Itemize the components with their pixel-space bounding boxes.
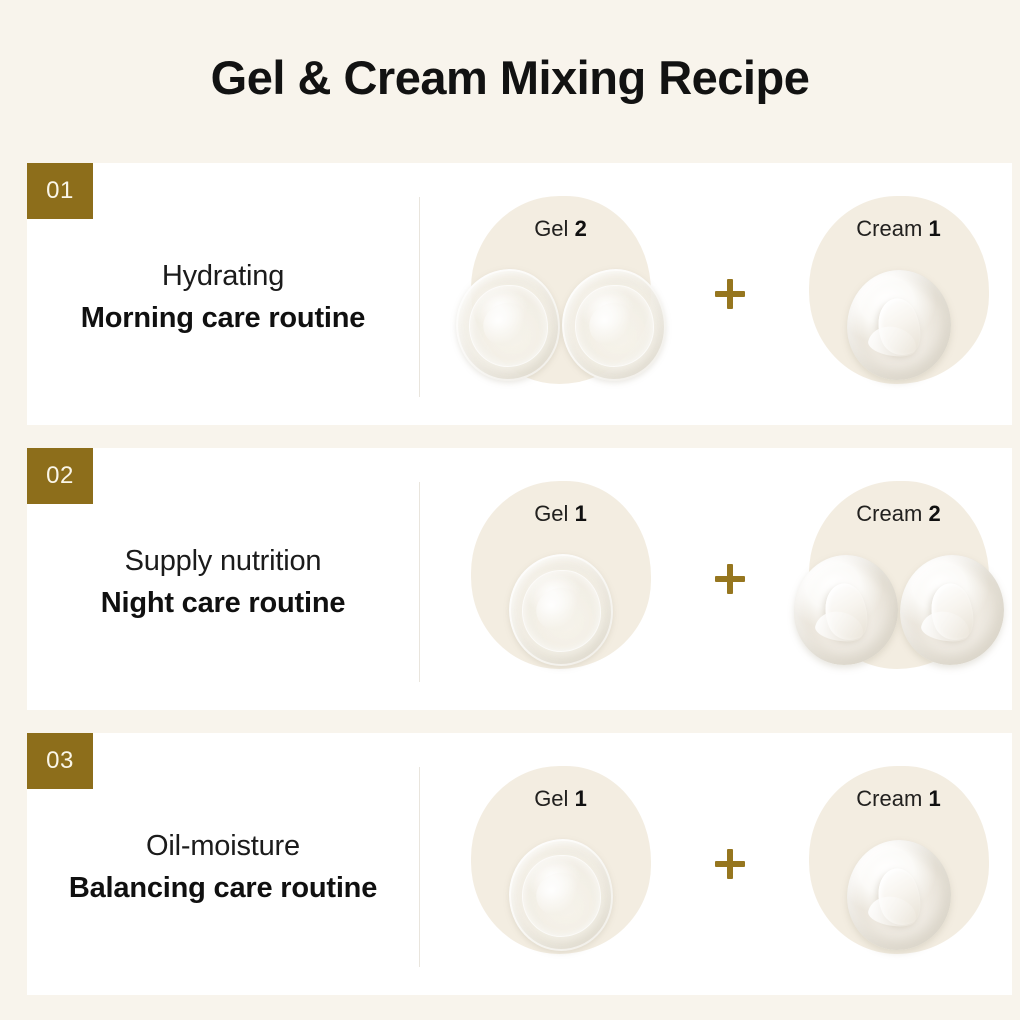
- routine-name: Morning care routine: [81, 297, 365, 339]
- page-title: Gel & Cream Mixing Recipe: [0, 52, 1020, 104]
- gel-blobs: [455, 545, 667, 675]
- cream-label: Cream 1: [793, 216, 1005, 242]
- cream-label: Cream 1: [793, 786, 1005, 812]
- gel-swatch-group: Gel 2: [455, 188, 667, 400]
- cream-label: Cream 2: [793, 501, 1005, 527]
- gel-label: Gel 1: [455, 501, 667, 527]
- gel-quantity: 1: [575, 786, 587, 811]
- cream-blobs: [793, 260, 1005, 390]
- plus-icon-vertical-bar: [727, 849, 733, 879]
- gel-dollop-icon: [509, 554, 613, 666]
- plus-icon-vertical-bar: [727, 564, 733, 594]
- cream-swatch-group: Cream 1: [793, 188, 1005, 400]
- swatch-area: Gel 1 Cream 1: [447, 733, 1012, 995]
- cream-dollop-icon: [847, 840, 951, 950]
- cream-label-text: Cream: [856, 786, 922, 811]
- plus-icon: [715, 849, 745, 879]
- row-divider: [419, 482, 420, 682]
- routine-text-block: Oil-moisture Balancing care routine: [27, 733, 419, 995]
- plus-icon: [715, 564, 745, 594]
- gel-label-text: Gel: [534, 786, 568, 811]
- plus-icon-vertical-bar: [727, 279, 733, 309]
- cream-label-text: Cream: [856, 501, 922, 526]
- cream-quantity: 1: [928, 786, 940, 811]
- row-divider: [419, 197, 420, 397]
- cream-label-text: Cream: [856, 216, 922, 241]
- gel-label-text: Gel: [534, 501, 568, 526]
- cream-dollop-icon: [794, 555, 898, 665]
- routine-benefit: Oil-moisture: [146, 825, 300, 867]
- cream-quantity: 2: [928, 501, 940, 526]
- recipe-row: 03 Oil-moisture Balancing care routine G…: [27, 733, 1012, 995]
- swatch-area: Gel 1 Cream 2: [447, 448, 1012, 710]
- cream-dollop-icon: [847, 270, 951, 380]
- gel-label: Gel 1: [455, 786, 667, 812]
- gel-label-text: Gel: [534, 216, 568, 241]
- cream-dollop-icon: [900, 555, 1004, 665]
- routine-name: Night care routine: [101, 582, 346, 624]
- routine-benefit: Hydrating: [162, 255, 284, 297]
- cream-quantity: 1: [928, 216, 940, 241]
- gel-quantity: 2: [575, 216, 587, 241]
- gel-dollop-icon: [509, 839, 613, 951]
- gel-swatch-group: Gel 1: [455, 758, 667, 970]
- routine-name: Balancing care routine: [69, 867, 377, 909]
- cream-swatch-group: Cream 1: [793, 758, 1005, 970]
- gel-label: Gel 2: [455, 216, 667, 242]
- routine-text-block: Hydrating Morning care routine: [27, 163, 419, 425]
- plus-icon: [715, 279, 745, 309]
- row-divider: [419, 767, 420, 967]
- swatch-area: Gel 2 Cream 1: [447, 163, 1012, 425]
- gel-dollop-icon: [456, 269, 560, 381]
- gel-swatch-group: Gel 1: [455, 473, 667, 685]
- gel-blobs: [455, 260, 667, 390]
- cream-blobs: [793, 830, 1005, 960]
- recipe-row: 01 Hydrating Morning care routine Gel 2 …: [27, 163, 1012, 425]
- gel-dollop-icon: [562, 269, 666, 381]
- cream-blobs: [793, 545, 1005, 675]
- cream-swatch-group: Cream 2: [793, 473, 1005, 685]
- recipe-row: 02 Supply nutrition Night care routine G…: [27, 448, 1012, 710]
- routine-benefit: Supply nutrition: [125, 540, 322, 582]
- gel-blobs: [455, 830, 667, 960]
- routine-text-block: Supply nutrition Night care routine: [27, 448, 419, 710]
- gel-quantity: 1: [575, 501, 587, 526]
